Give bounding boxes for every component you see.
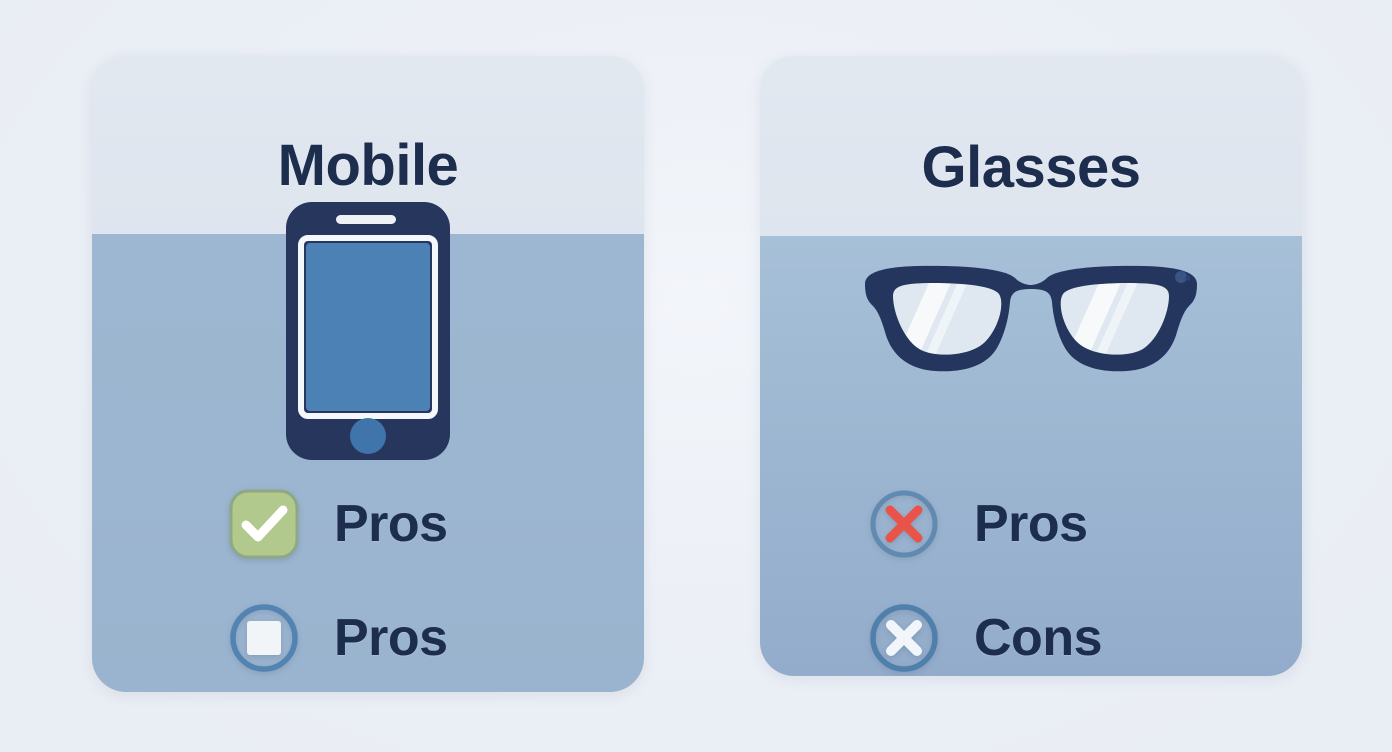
feature-label: Pros bbox=[334, 496, 448, 552]
feature-label: Pros bbox=[974, 496, 1088, 552]
feature-row-cons-cross-white[interactable]: Cons bbox=[868, 594, 1302, 676]
white-cross-circle-icon bbox=[868, 602, 940, 674]
eyeglasses-icon bbox=[760, 262, 1302, 378]
card-mobile-title: Mobile bbox=[92, 134, 644, 198]
card-glasses-feature-list: Pros Cons bbox=[760, 480, 1302, 676]
card-glasses[interactable]: Glasses bbox=[760, 56, 1302, 676]
card-mobile[interactable]: Mobile Pros bbox=[92, 56, 644, 692]
card-glasses-title: Glasses bbox=[760, 136, 1302, 200]
feature-row-pros-square[interactable]: Pros bbox=[228, 594, 644, 682]
red-cross-circle-icon bbox=[868, 488, 940, 560]
green-check-square-icon bbox=[228, 488, 300, 560]
card-mobile-feature-list: Pros Pros bbox=[92, 480, 644, 682]
feature-row-pros-cross-red[interactable]: Pros bbox=[868, 480, 1302, 568]
feature-row-pros-check[interactable]: Pros bbox=[228, 480, 644, 568]
feature-label: Cons bbox=[974, 610, 1102, 666]
smartphone-icon bbox=[92, 200, 644, 462]
white-square-circle-icon bbox=[228, 602, 300, 674]
feature-label: Pros bbox=[334, 610, 448, 666]
comparison-board: Mobile Pros bbox=[0, 0, 1392, 752]
